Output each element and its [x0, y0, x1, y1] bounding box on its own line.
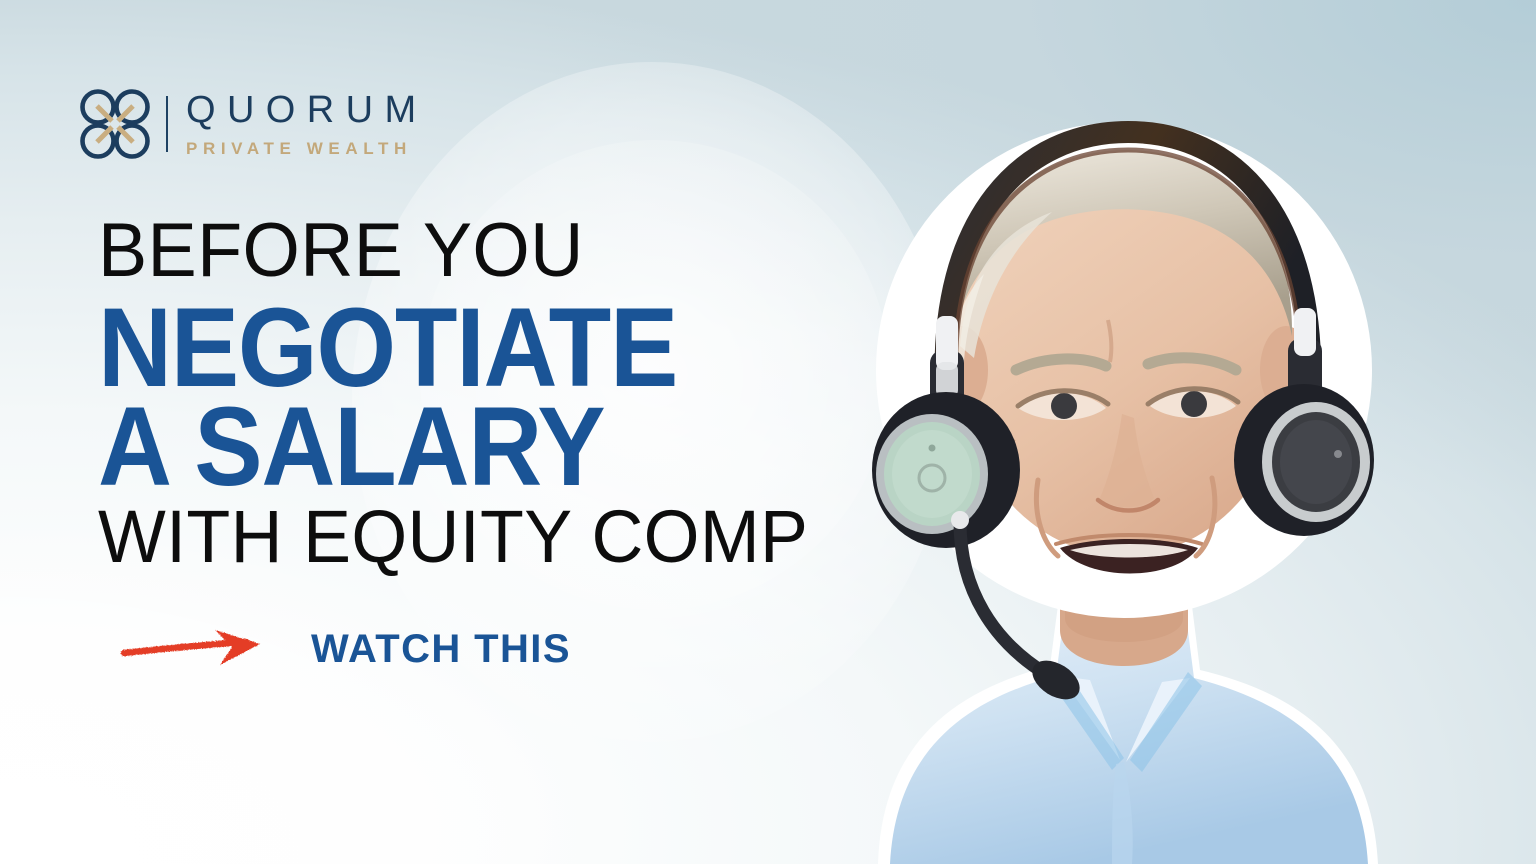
- hair: [956, 150, 1292, 336]
- logo-divider: [166, 96, 168, 152]
- right-arrow-brush-icon: [120, 626, 285, 672]
- headset-boom-mic: [960, 522, 1046, 674]
- headline-line-2: NEGOTIATE: [98, 300, 885, 396]
- watch-this-cta[interactable]: WATCH THIS: [120, 626, 571, 672]
- watch-this-label: WATCH THIS: [311, 627, 571, 672]
- video-thumbnail: QUORUM PRIVATE WEALTH BEFORE YOU NEGOTIA…: [0, 0, 1536, 864]
- headline-line-4: WITH EQUITY COMP: [98, 501, 932, 574]
- shirt: [890, 600, 1368, 864]
- portrait-cutout-outline-body: [878, 590, 1378, 864]
- quorum-quatrefoil-logo-mark: [78, 87, 152, 161]
- brand-logo[interactable]: QUORUM PRIVATE WEALTH: [78, 84, 428, 164]
- mouth: [1060, 539, 1198, 574]
- face: [956, 156, 1292, 556]
- brand-tagline: PRIVATE WEALTH: [186, 140, 428, 157]
- left-eye: [1051, 393, 1077, 419]
- headline-block: BEFORE YOU NEGOTIATE A SALARY WITH EQUIT…: [98, 214, 958, 574]
- mic-capsule: [1025, 653, 1086, 708]
- headset-right-slider: [1288, 338, 1322, 410]
- headline-line-3: A SALARY: [98, 399, 885, 495]
- logo-wordmark: QUORUM PRIVATE WEALTH: [186, 91, 428, 157]
- headset-right-earcup: [1234, 384, 1374, 536]
- brand-name: QUORUM: [186, 91, 428, 129]
- headline-line-1: BEFORE YOU: [98, 214, 932, 288]
- right-eye: [1181, 391, 1207, 417]
- headset-headband: [945, 132, 1310, 392]
- neck: [1060, 540, 1188, 666]
